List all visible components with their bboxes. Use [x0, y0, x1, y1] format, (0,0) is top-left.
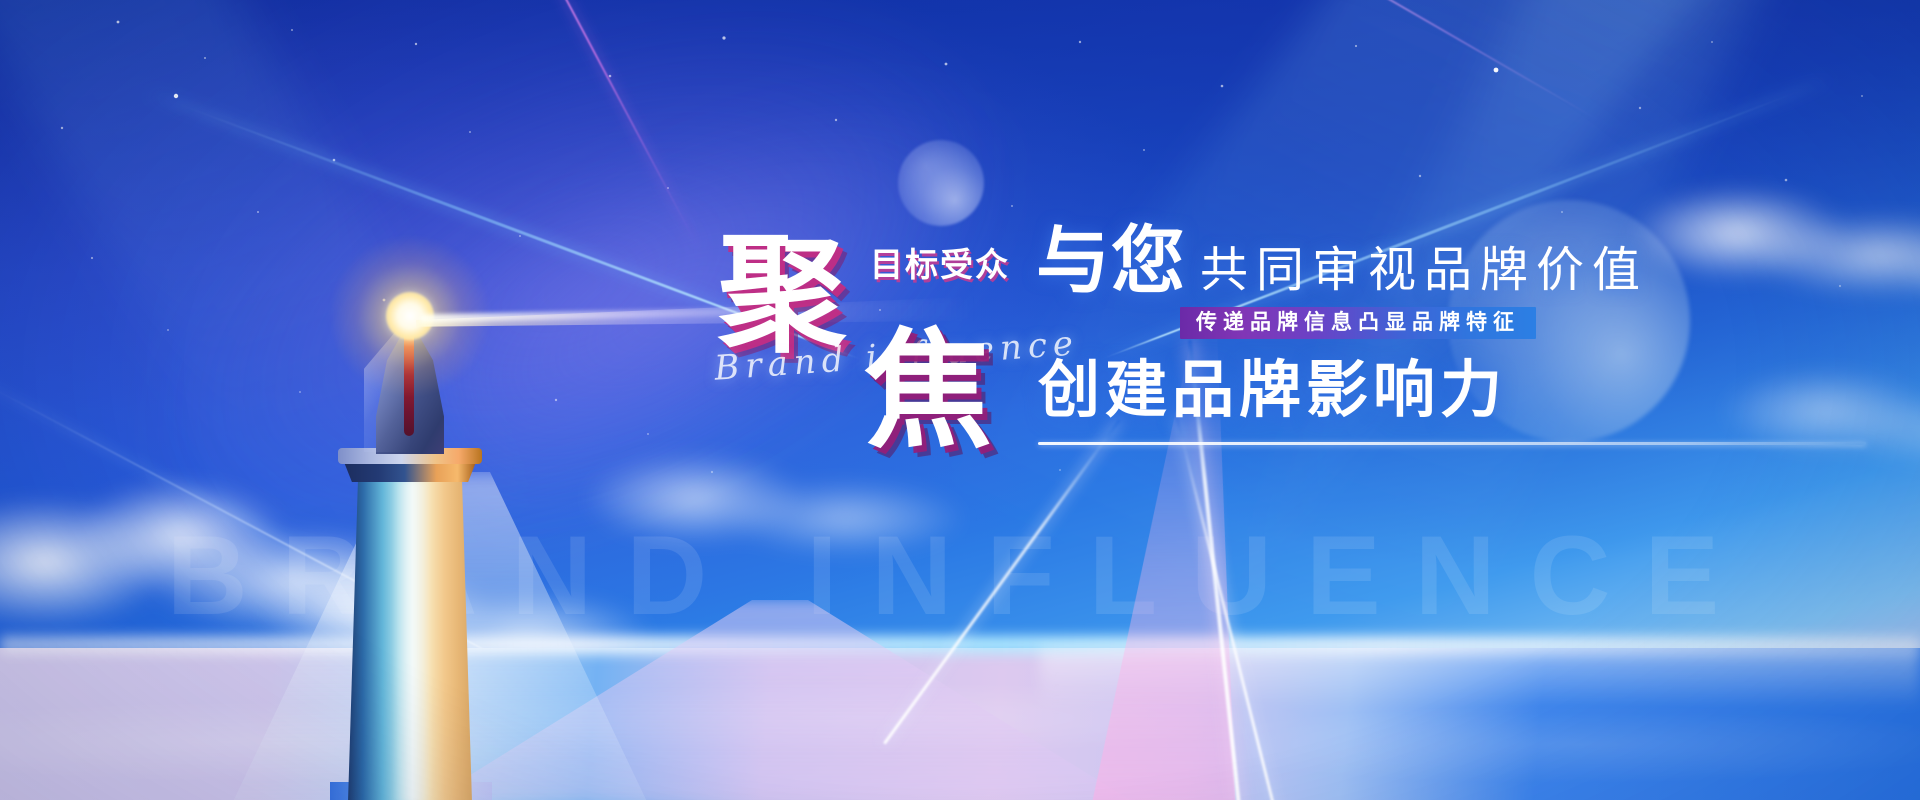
light-beam-icon-violet: [1236, 0, 1601, 122]
lighthouse-icon: [310, 258, 570, 800]
lighthouse-light-cone: [190, 472, 690, 800]
secondary-claim-line: 创建品牌影响力: [1038, 360, 1507, 422]
lighthouse-gallery-rail: [338, 448, 482, 464]
lighthouse-tower-glow: [348, 482, 472, 800]
lighthouse-base: [330, 782, 492, 800]
lighthouse-base-sheen: [330, 782, 492, 800]
right-text-column: 与您 共同审视品牌价值 传递品牌信息凸显品牌特征 创建品牌影响力: [1036, 224, 1876, 298]
pen-nib-breather-hole: [402, 320, 416, 336]
headline-underline-rule: [1038, 442, 1866, 445]
sea-plane: [0, 648, 1920, 800]
pen-nib-slit: [404, 332, 414, 436]
cloud-icon-left-secondary: [250, 530, 670, 680]
moon-icon: [898, 140, 984, 226]
ribbon-tagline: 传递品牌信息凸显品牌特征: [1180, 307, 1536, 339]
horizon-glow: [0, 636, 1920, 654]
light-shaft-icon-top-left: [0, 0, 546, 615]
light-beam-icon-magenta: [436, 0, 701, 251]
sea-highlight-streak: [1040, 648, 1920, 708]
beacon-light-icon: [328, 234, 492, 398]
lighthouse-tower: [348, 482, 472, 800]
sea-wave-overlay: [0, 670, 1920, 790]
lighthouse-gallery-lower: [344, 462, 476, 482]
light-beam-icon-left: [0, 370, 508, 663]
background-watermark: BRAND INFLUENCE: [0, 520, 1920, 632]
primary-claim-lead: 与您: [1036, 224, 1186, 298]
pen-nib-highlight: [364, 322, 410, 452]
cloud-icon-left-primary: [0, 455, 450, 640]
audience-tag: 目标受众: [870, 238, 1010, 286]
headline-block: 聚 目标受众 Brand influence 焦 与您 共同审视品牌价值 传递品…: [718, 232, 1878, 532]
primary-claim-rest: 共同审视品牌价值: [1200, 247, 1648, 295]
beacon-core: [386, 292, 434, 340]
headline-char-jiao: 焦: [864, 328, 992, 456]
pen-nib-icon: [360, 320, 460, 454]
brand-banner: BRAND INFLUENCE 聚 目标受众 Brand influence 焦: [0, 0, 1920, 800]
light-beam-icon-lavender-cone: [430, 600, 1130, 800]
primary-claim-line: 与您 共同审视品牌价值: [1036, 224, 1876, 298]
